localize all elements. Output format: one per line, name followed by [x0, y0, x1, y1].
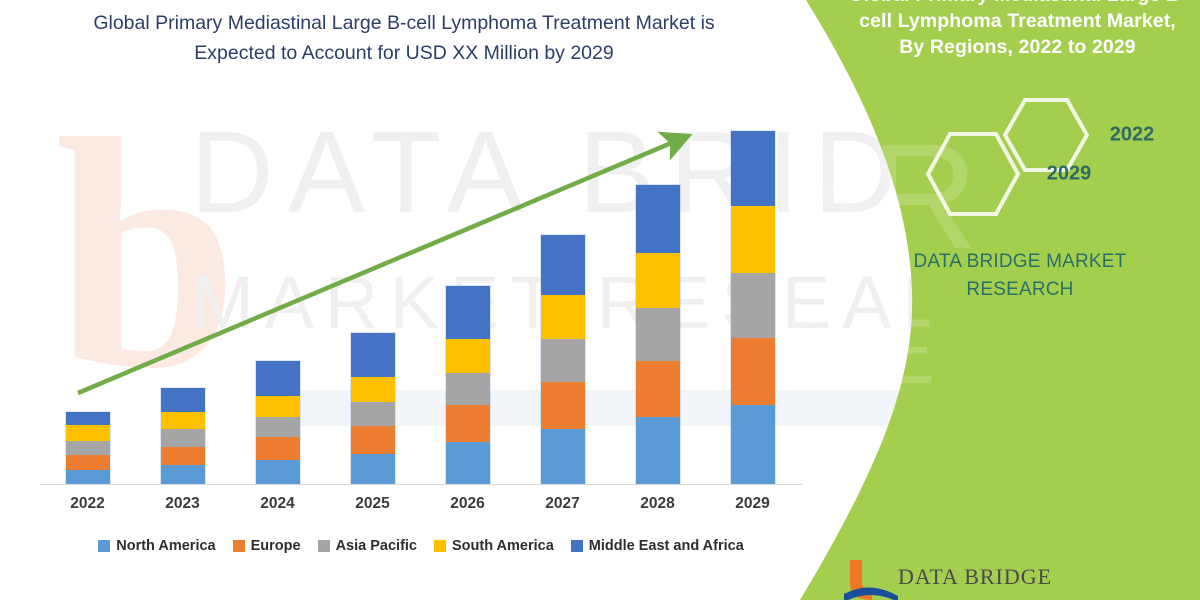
x-tick-2026: 2026	[433, 495, 503, 513]
legend-item-north-america[interactable]: North America	[98, 538, 215, 554]
x-axis-tick-labels: 20222023202420252026202720282029	[40, 495, 802, 521]
x-tick-2024: 2024	[243, 495, 313, 513]
databridge-logo-icon	[840, 556, 900, 600]
bar-segment-middle-east-and-africa	[256, 361, 300, 396]
bar-segment-asia-pacific	[541, 339, 585, 381]
bar-segment-europe	[351, 426, 395, 453]
bar-segment-north-america	[636, 417, 680, 484]
bar-segment-asia-pacific	[351, 402, 395, 426]
hexagon-2029: 2029	[925, 131, 1021, 217]
bar-segment-north-america	[446, 442, 490, 484]
legend-swatch-icon	[233, 540, 245, 552]
bar-2028	[636, 185, 680, 484]
bar-segment-middle-east-and-africa	[351, 333, 395, 376]
bar-segment-middle-east-and-africa	[446, 286, 490, 340]
bar-segment-europe	[256, 437, 300, 459]
bar-segment-europe	[636, 361, 680, 418]
legend-label: Asia Pacific	[336, 538, 417, 554]
x-tick-2029: 2029	[718, 495, 788, 513]
panel-title-line1: Global Primary Mediastinal Large B-	[845, 0, 1190, 8]
legend-item-south-america[interactable]: South America	[434, 538, 554, 554]
infographic-canvas: b DATA BRIDGE MARKET RESEARCH BR R E Glo…	[0, 0, 1200, 600]
bar-segment-south-america	[446, 339, 490, 372]
stacked-bar-chart: 20222023202420252026202720282029 North A…	[0, 0, 820, 600]
bar-segment-asia-pacific	[636, 308, 680, 361]
bar-segment-asia-pacific	[446, 373, 490, 405]
bar-segment-south-america	[541, 295, 585, 340]
bar-segment-asia-pacific	[256, 417, 300, 437]
brand-name: DATA BRIDGE MARKET RESEARCH	[905, 248, 1135, 304]
brand-line-1: DATA BRIDGE MARKET	[905, 248, 1135, 276]
bar-segment-asia-pacific	[161, 429, 205, 446]
bar-segment-north-america	[66, 470, 110, 484]
bar-segment-south-america	[636, 253, 680, 308]
chart-plot-area	[40, 92, 800, 484]
bar-segment-asia-pacific	[66, 441, 110, 455]
bar-segment-europe	[731, 338, 775, 405]
bar-segment-europe	[446, 405, 490, 441]
legend-label: South America	[452, 538, 554, 554]
legend-label: Europe	[251, 538, 301, 554]
bar-segment-middle-east-and-africa	[541, 235, 585, 295]
legend-swatch-icon	[318, 540, 330, 552]
company-logo: DATA BRIDGE	[840, 556, 1170, 600]
bar-segment-middle-east-and-africa	[161, 388, 205, 412]
bar-segment-north-america	[351, 454, 395, 484]
bar-segment-middle-east-and-africa	[731, 131, 775, 206]
legend-label: Middle East and Africa	[589, 538, 744, 554]
x-tick-2027: 2027	[528, 495, 598, 513]
bar-2024	[256, 361, 300, 484]
bar-segment-north-america	[256, 460, 300, 484]
bar-2022	[66, 412, 110, 484]
panel-title-line2: cell Lymphoma Treatment Market,	[845, 8, 1190, 34]
bar-segment-europe	[541, 382, 585, 430]
bar-segment-asia-pacific	[731, 273, 775, 339]
bar-segment-south-america	[256, 396, 300, 417]
legend-label: North America	[116, 538, 215, 554]
legend-item-europe[interactable]: Europe	[233, 538, 301, 554]
panel-title-line3: By Regions, 2022 to 2029	[845, 34, 1190, 60]
bar-segment-north-america	[731, 405, 775, 484]
legend-item-middle-east-and-africa[interactable]: Middle East and Africa	[571, 538, 744, 554]
hexagon-2022-label: 2022	[1089, 124, 1175, 147]
legend-swatch-icon	[571, 540, 583, 552]
bar-segment-north-america	[161, 465, 205, 484]
bar-segment-europe	[66, 455, 110, 470]
bar-segment-north-america	[541, 429, 585, 484]
hexagon-outline-icon	[925, 131, 1021, 217]
chart-legend: North AmericaEuropeAsia PacificSouth Ame…	[40, 538, 802, 554]
legend-item-asia-pacific[interactable]: Asia Pacific	[318, 538, 417, 554]
logo-text: DATA BRIDGE	[898, 564, 1052, 590]
bar-2025	[351, 333, 395, 484]
brand-line-2: RESEARCH	[905, 276, 1135, 304]
x-axis-line	[40, 484, 802, 485]
bar-segment-south-america	[66, 425, 110, 440]
bar-2027	[541, 235, 585, 484]
bar-segment-middle-east-and-africa	[636, 185, 680, 254]
bar-2023	[161, 388, 205, 484]
legend-swatch-icon	[434, 540, 446, 552]
hexagon-group: 2022 2029	[915, 95, 1115, 225]
bar-segment-south-america	[351, 377, 395, 402]
bar-2026	[446, 286, 490, 484]
bar-segment-south-america	[731, 206, 775, 273]
bar-2029	[731, 131, 775, 484]
x-tick-2025: 2025	[338, 495, 408, 513]
bar-segment-south-america	[161, 412, 205, 429]
bar-segment-europe	[161, 447, 205, 465]
hexagon-2029-label: 2029	[1021, 163, 1117, 186]
x-tick-2022: 2022	[53, 495, 123, 513]
x-tick-2023: 2023	[148, 495, 218, 513]
legend-swatch-icon	[98, 540, 110, 552]
x-tick-2028: 2028	[623, 495, 693, 513]
bar-segment-middle-east-and-africa	[66, 412, 110, 425]
panel-title: Global Primary Mediastinal Large B- cell…	[845, 0, 1190, 60]
